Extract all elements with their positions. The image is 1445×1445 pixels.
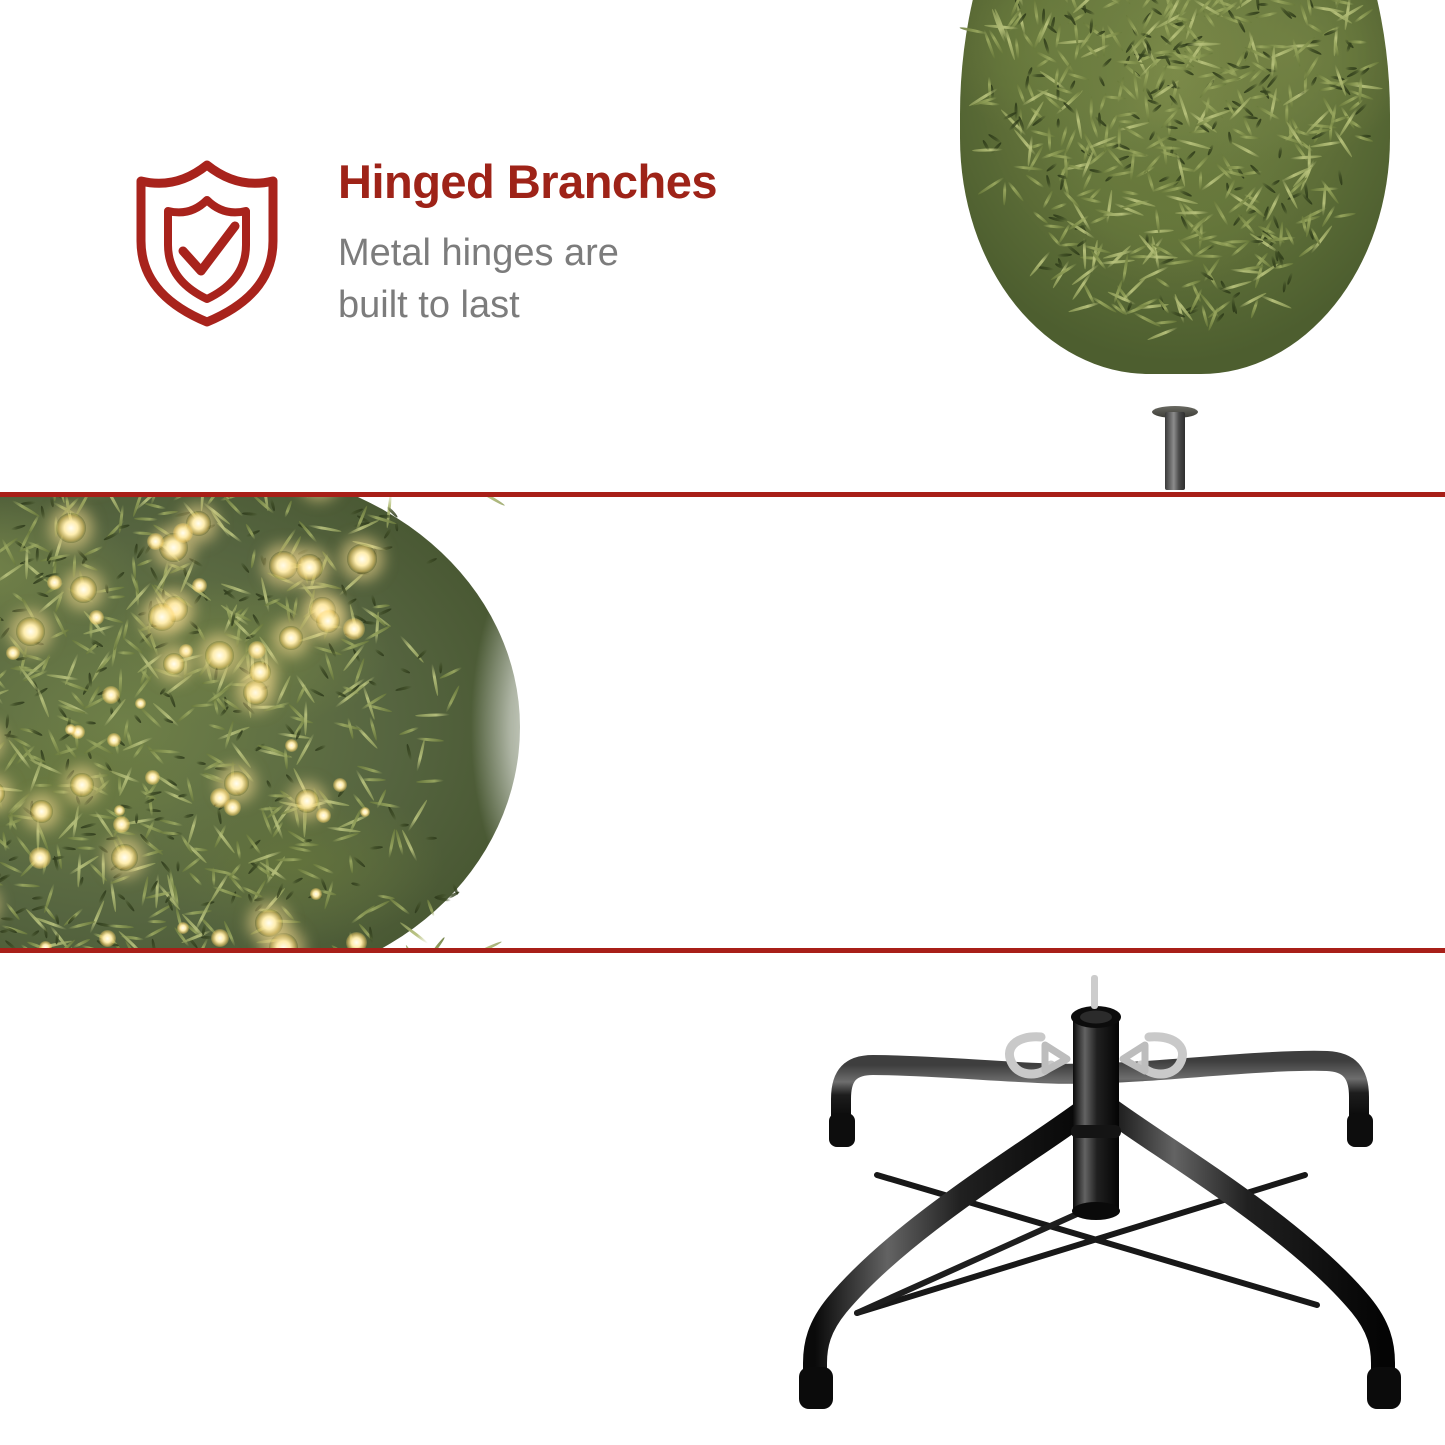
feature-subtitle: Metal hinges are built to last [338, 227, 717, 332]
subtitle-line: Metal hinges are [338, 227, 717, 279]
branch-foliage [960, 0, 1390, 374]
feature-text-hinged-branches: Hinged Branches Metal hinges are built t… [338, 158, 717, 332]
shield-check-icon [131, 155, 283, 330]
product-feature-infographic: Hinged Branches Metal hinges are built t… [0, 0, 1445, 1445]
feature-panel-sturdy-base: Sturdy Base A reliable metal stand for y… [0, 953, 1445, 1445]
subtitle-line: built to last [338, 279, 717, 331]
feature-heading: Hinged Branches [338, 158, 717, 205]
prelit-christmas-tree-photo [0, 497, 556, 948]
christmas-tree-branch-photo [905, 0, 1445, 492]
feature-panel-pvc-tips: PVC Tips Flame-retardant and easy to flu… [0, 497, 1445, 948]
metal-tree-stand-photo [745, 953, 1445, 1445]
tree-stand-illustration [745, 953, 1445, 1445]
tree-photo-fade [366, 497, 556, 948]
branch-metal-pole [1165, 412, 1185, 490]
feature-panel-hinged-branches: Hinged Branches Metal hinges are built t… [0, 0, 1445, 492]
